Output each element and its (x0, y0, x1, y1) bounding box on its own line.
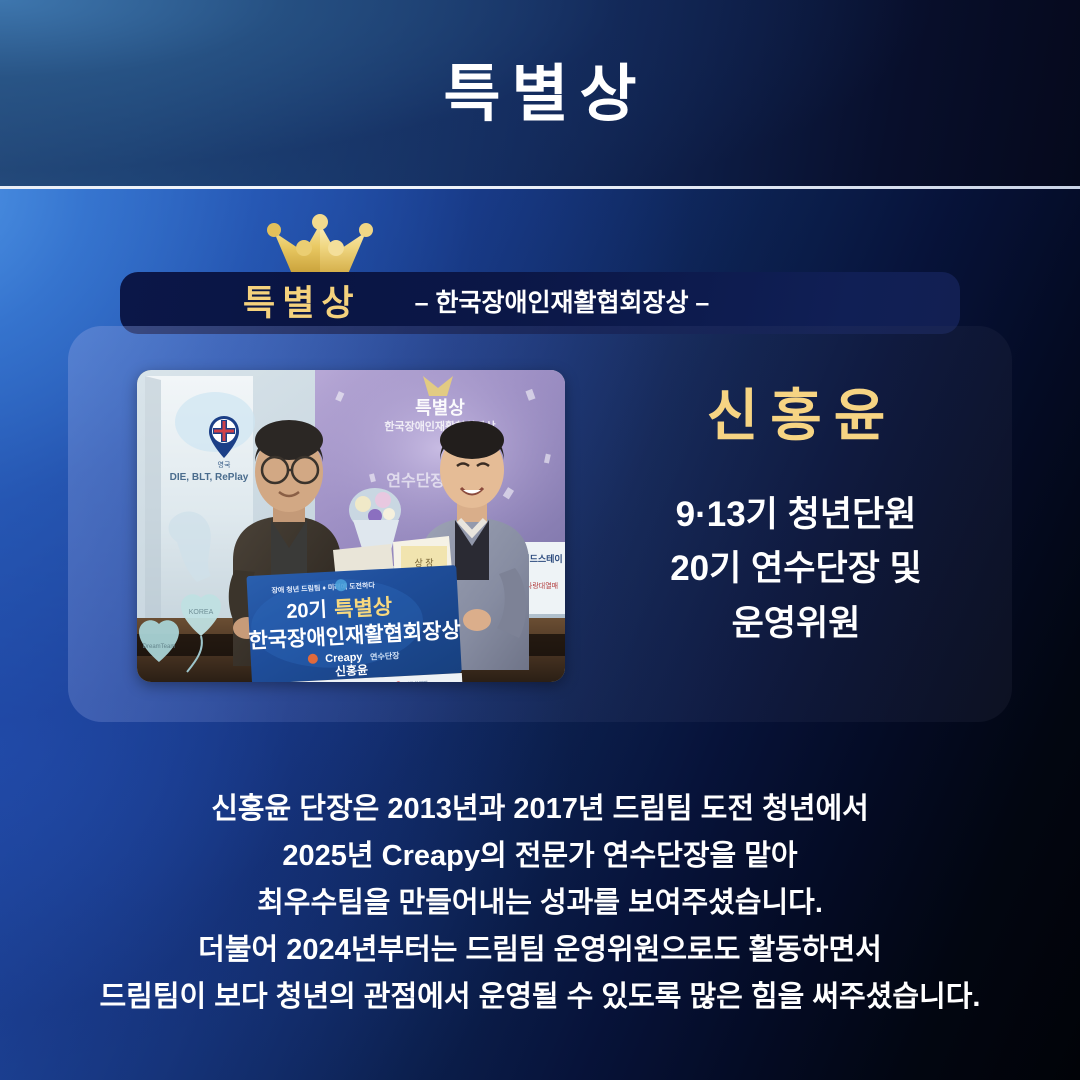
award-poster: 특별상 (0, 0, 1080, 1080)
award-badge-subtitle: – 한국장애인재활협회장상 – (415, 291, 710, 316)
recipient-role-line: 운영위원 (570, 597, 1022, 651)
svg-text:KOREA: KOREA (189, 609, 214, 616)
recipient-name: 신홍윤 (580, 385, 1012, 447)
svg-text:영국: 영국 (218, 460, 231, 469)
description-line: 최우수팀을 만들어내는 성과를 보여주셨습니다. (0, 880, 1080, 927)
svg-text:20기: 20기 (286, 598, 328, 623)
award-photo: 특별상 한국장애인재활협회장상 연수단장 신홍윤 앤드스테이 사랑대열매 (137, 370, 565, 682)
svg-text:특별상: 특별상 (415, 398, 465, 418)
description-line: 더불어 2024년부터는 드림팀 운영위원으로도 활동하면서 (0, 927, 1080, 974)
svg-text:DreamTeam: DreamTeam (143, 644, 176, 650)
svg-text:특별상: 특별상 (334, 596, 393, 622)
svg-text:DIE, BLT, RePlay: DIE, BLT, RePlay (170, 472, 249, 483)
svg-text:신홍윤: 신홍윤 (335, 662, 369, 679)
recipient-role-line: 20기 연수단장 및 (570, 542, 1022, 596)
recipient-roles: 9·13기 청년단원 20기 연수단장 및 운영위원 (570, 488, 1022, 651)
award-description: 신홍윤 단장은 2013년과 2017년 드림팀 도전 청년에서 2025년 C… (0, 786, 1080, 1021)
svg-text:연수단장: 연수단장 (370, 650, 401, 662)
award-badge-bar: 특별상 – 한국장애인재활협회장상 – (120, 272, 960, 334)
svg-text:사랑대열매: 사랑대열매 (526, 581, 558, 590)
description-line: 2025년 Creapy의 전문가 연수단장을 맡아 (0, 833, 1080, 880)
poster-header: 특별상 (0, 0, 1080, 186)
description-line: 드림팀이 보다 청년의 관점에서 운영될 수 있도록 많은 힘을 써주셨습니다. (0, 974, 1080, 1021)
description-line: 신홍윤 단장은 2013년과 2017년 드림팀 도전 청년에서 (0, 786, 1080, 833)
award-badge-label: 특별상 (236, 286, 361, 321)
recipient-role-line: 9·13기 청년단원 (570, 488, 1022, 542)
page-title: 특별상 (0, 64, 1080, 126)
